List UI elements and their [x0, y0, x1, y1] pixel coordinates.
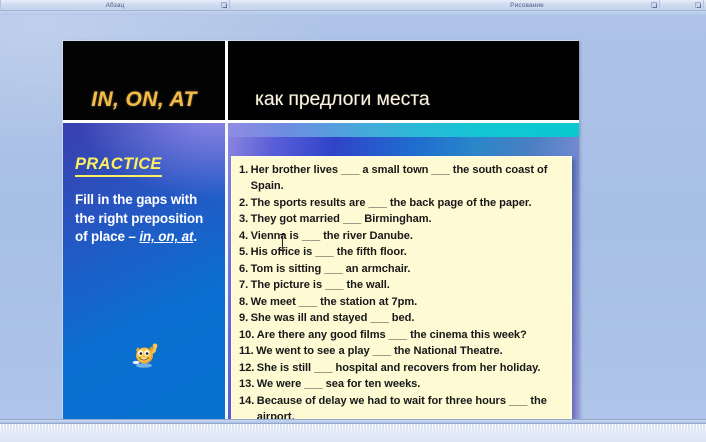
- exercise-item-number: 8.: [239, 294, 251, 310]
- exercise-item-number: 5.: [239, 244, 251, 260]
- exercise-item-text: The sports results are ___ the back page…: [251, 195, 563, 211]
- exercise-item-number: 4.: [239, 228, 251, 244]
- status-bar-texture: [0, 424, 706, 430]
- ribbon-group-paragraph[interactable]: Абзац: [0, 0, 230, 11]
- exercise-item: 10.Are there any good films ___ the cine…: [239, 327, 563, 343]
- ribbon-group-tail[interactable]: [660, 0, 704, 11]
- exercise-item: 1.Her brother lives ___ a small town ___…: [239, 162, 563, 195]
- exercise-item: 13.We were ___ sea for ten weeks.: [239, 376, 563, 392]
- exercise-item-text: She is still ___ hospital and recovers f…: [257, 360, 563, 376]
- slide-title-row: IN, ON, AT как предлоги места: [63, 41, 579, 120]
- exercise-item-text: Tom is sitting ___ an armchair.: [251, 261, 563, 277]
- ribbon-group-drawing-label: Рисование: [510, 2, 544, 9]
- exercise-item-text: We went to see a play ___ the National T…: [256, 343, 563, 359]
- dialog-launcher-icon[interactable]: [221, 2, 227, 8]
- exercise-item-text: We meet ___ the station at 7pm.: [251, 294, 563, 310]
- exercise-item: 4.Vienna is ___ the river Danube.: [239, 228, 563, 244]
- exercise-item-text: Her brother lives ___ a small town ___ t…: [251, 162, 563, 195]
- exercise-item-text: Vienna is ___ the river Danube.: [251, 228, 563, 244]
- ribbon-strip: Абзац Рисование: [0, 0, 706, 11]
- exercise-list: 1.Her brother lives ___ a small town ___…: [239, 162, 563, 423]
- cartoon-character-waving-icon[interactable]: [129, 338, 163, 372]
- exercise-item-number: 6.: [239, 261, 251, 277]
- exercise-item-text: She was ill and stayed ___ bed.: [251, 310, 563, 326]
- exercise-item: 7.The picture is ___ the wall.: [239, 277, 563, 293]
- exercise-item: 2.The sports results are ___ the back pa…: [239, 195, 563, 211]
- instruction-emphasis: in, on, at: [139, 229, 193, 244]
- exercise-item: 5.His office is ___ the fifth floor.: [239, 244, 563, 260]
- left-panel[interactable]: PRACTICE Fill in the gaps with the right…: [63, 123, 225, 434]
- exercise-item: 12.She is still ___ hospital and recover…: [239, 360, 563, 376]
- exercise-item-number: 10.: [239, 327, 257, 343]
- exercise-item-text: Are there any good films ___ the cinema …: [257, 327, 563, 343]
- exercise-item: 3.They got married ___ Birmingham.: [239, 211, 563, 227]
- exercise-item-number: 14.: [239, 393, 257, 409]
- instruction-suffix: .: [193, 229, 197, 244]
- dialog-launcher-icon[interactable]: [651, 2, 657, 8]
- exercise-textbox[interactable]: 1.Her brother lives ___ a small town ___…: [231, 156, 572, 423]
- exercise-item-number: 2.: [239, 195, 251, 211]
- instruction-text: Fill in the gaps with the right preposit…: [75, 191, 217, 247]
- exercise-item: 6.Tom is sitting ___ an armchair.: [239, 261, 563, 277]
- exercise-item-number: 12.: [239, 360, 257, 376]
- slide-editing-workspace[interactable]: IN, ON, AT как предлоги места PRACTICE F…: [0, 15, 706, 419]
- title-subject-placeholder[interactable]: как предлоги места: [228, 41, 579, 120]
- ribbon-group-paragraph-label: Абзац: [106, 2, 125, 9]
- exercise-item-number: 7.: [239, 277, 251, 293]
- exercise-item-number: 3.: [239, 211, 251, 227]
- exercise-item-text: We were ___ sea for ten weeks.: [257, 376, 563, 392]
- ribbon-group-drawing[interactable]: Рисование: [395, 0, 660, 11]
- title-keywords-text: IN, ON, AT: [91, 88, 197, 112]
- exercise-item-text: They got married ___ Birmingham.: [251, 211, 563, 227]
- title-keywords-placeholder[interactable]: IN, ON, AT: [63, 41, 225, 120]
- exercise-item-number: 13.: [239, 376, 257, 392]
- exercise-item: 8.We meet ___ the station at 7pm.: [239, 294, 563, 310]
- exercise-item-text: His office is ___ the fifth floor.: [251, 244, 563, 260]
- exercise-item-number: 11.: [239, 343, 256, 359]
- dialog-launcher-icon[interactable]: [695, 2, 701, 8]
- exercise-item: 9.She was ill and stayed ___ bed.: [239, 310, 563, 326]
- slide-canvas[interactable]: IN, ON, AT как предлоги места PRACTICE F…: [62, 40, 578, 433]
- ribbon-group-spacer: [230, 0, 395, 11]
- practice-heading: PRACTICE: [75, 155, 162, 177]
- status-bar[interactable]: [0, 424, 706, 442]
- exercise-item-text: The picture is ___ the wall.: [251, 277, 563, 293]
- exercise-item-number: 1.: [239, 162, 251, 178]
- title-subject-text: как предлоги места: [255, 88, 430, 111]
- exercise-item-number: 9.: [239, 310, 251, 326]
- exercise-item: 11.We went to see a play ___ the Nationa…: [239, 343, 563, 359]
- slide-body: PRACTICE Fill in the gaps with the right…: [63, 123, 579, 434]
- teal-accent-band: [228, 123, 579, 137]
